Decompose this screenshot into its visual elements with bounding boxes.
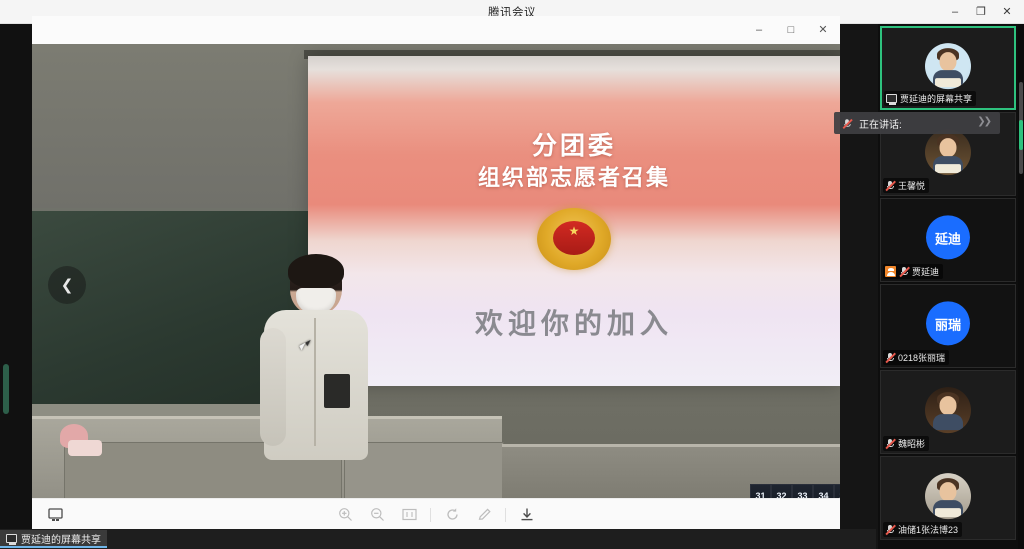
shared-screen-window: – □ ✕ 分团委 组织部志愿者召集 ★ 欢迎你的加入: [32, 16, 840, 529]
pencil-icon[interactable]: [473, 504, 495, 526]
shared-window-titlebar: – □ ✕: [32, 16, 840, 44]
slide-subtitle: 组织部志愿者召集: [308, 160, 840, 192]
projector-screen: 分团委 组织部志愿者召集 ★ 欢迎你的加入: [308, 56, 840, 386]
taskbar: 贾延迪的屏幕共享: [0, 529, 876, 549]
minimize-button[interactable]: –: [942, 1, 968, 23]
speaking-label: 正在讲话:: [859, 116, 902, 131]
mic-muted-icon: [899, 266, 909, 277]
shared-close-button[interactable]: ✕: [808, 18, 838, 42]
window-controls: – ❐ ✕: [942, 0, 1020, 24]
participant-tile[interactable]: 贾延迪的屏幕共享: [880, 26, 1016, 110]
mic-muted-icon: [842, 118, 852, 128]
scrollbar-speaking-indicator: [1019, 120, 1023, 150]
share-toolbar-center: [32, 499, 840, 530]
toolbar-divider-2: [505, 508, 506, 522]
previous-button[interactable]: ❮: [48, 266, 86, 304]
zoom-out-icon[interactable]: [366, 504, 388, 526]
locker: 31: [750, 484, 771, 498]
left-edge-strip: [0, 24, 32, 529]
locker: 35: [834, 484, 840, 498]
chevron-right-icon: ❯❯: [977, 116, 990, 127]
participant-label: 魏昭彬: [883, 436, 929, 451]
foreground-object-2: [68, 440, 102, 456]
shared-content-stage: 分团委 组织部志愿者召集 ★ 欢迎你的加入 31 32 33 34 35 36 …: [32, 44, 840, 498]
locker: 32: [771, 484, 792, 498]
toolbar-divider: [430, 508, 431, 522]
participant-label: 贾延迪的屏幕共享: [884, 91, 976, 106]
screen-share-icon: [886, 94, 897, 103]
host-badge-icon: [885, 266, 896, 277]
avatar: [925, 387, 971, 433]
youth-league-emblem-icon: ★: [537, 208, 611, 270]
podium-front-right: [344, 442, 504, 498]
presenter-figure: [264, 256, 368, 456]
avatar: [925, 129, 971, 175]
participant-scrollbar[interactable]: [1018, 24, 1024, 549]
participant-tile[interactable]: 丽瑞 0218张丽瑞: [880, 284, 1016, 368]
participant-name: 0218张丽瑞: [898, 351, 945, 364]
participant-label: 贾延迪: [883, 264, 943, 279]
fit-to-screen-icon[interactable]: [398, 504, 420, 526]
locker: 34: [813, 484, 834, 498]
participant-rail: 贾延迪的屏幕共享 正在讲话: ❯❯ 王馨悦: [878, 24, 1024, 549]
share-toolbar: [32, 498, 840, 529]
participant-tile[interactable]: 油储1张法博23: [880, 456, 1016, 540]
participant-label: 油储1张法博23: [883, 522, 962, 537]
slide-title: 分团委: [308, 126, 840, 162]
download-icon[interactable]: [516, 504, 538, 526]
slide-welcome-text: 欢迎你的加入: [308, 302, 840, 342]
mic-muted-icon: [885, 352, 895, 363]
participant-name: 王馨悦: [898, 179, 925, 192]
participant-tile[interactable]: 魏昭彬: [880, 370, 1016, 454]
participant-name: 魏昭彬: [898, 437, 925, 450]
taskbar-item-label: 贾延迪的屏幕共享: [21, 531, 101, 546]
close-button[interactable]: ✕: [994, 1, 1020, 23]
left-strip-indicator: [3, 364, 9, 414]
rotate-icon[interactable]: [441, 504, 463, 526]
avatar: [925, 43, 971, 89]
speaking-tooltip: 正在讲话: ❯❯: [834, 112, 1000, 134]
mic-muted-icon: [885, 438, 895, 449]
maximize-button[interactable]: ❐: [968, 1, 994, 23]
participant-tile[interactable]: 延迪 贾延迪: [880, 198, 1016, 282]
screen-share-icon: [6, 534, 17, 543]
taskbar-item-screen-share[interactable]: 贾延迪的屏幕共享: [0, 530, 107, 548]
shared-maximize-button[interactable]: □: [776, 18, 806, 42]
locker-grid: 31 32 33 34 35 36 37 38 39 40 41 42: [750, 484, 840, 498]
shared-minimize-button[interactable]: –: [744, 18, 774, 42]
participant-name: 贾延迪的屏幕共享: [900, 92, 972, 105]
participant-name: 油储1张法博23: [898, 523, 958, 536]
participant-label: 王馨悦: [883, 178, 929, 193]
participant-label: 0218张丽瑞: [883, 350, 949, 365]
tencent-meeting-window: 腾讯会议 – ❐ ✕ – □ ✕ 分团委 组织部志愿者召集: [0, 0, 1024, 549]
avatar-initials: 延迪: [926, 215, 970, 259]
avatar: [925, 473, 971, 519]
mic-muted-icon: [885, 524, 895, 535]
participant-name: 贾延迪: [912, 265, 939, 278]
avatar-initials: 丽瑞: [926, 301, 970, 345]
zoom-in-icon[interactable]: [334, 504, 356, 526]
mic-muted-icon: [885, 180, 895, 191]
locker: 33: [792, 484, 813, 498]
